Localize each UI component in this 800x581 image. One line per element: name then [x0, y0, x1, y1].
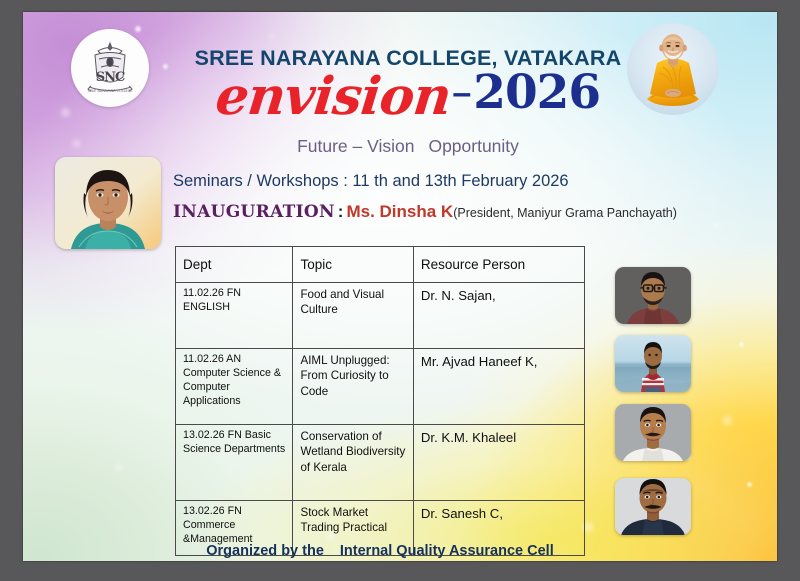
- college-crest-icon: SNC SREE NARAYANA COLLEGE: [71, 29, 149, 107]
- table-header-dept: Dept: [176, 247, 293, 283]
- resource-person-1-portrait-image: [615, 267, 691, 324]
- bokeh-dot: [115, 464, 122, 471]
- event-poster: SNC SREE NARAYANA COLLEGE: [23, 12, 777, 561]
- inauguration-guest-name: Ms. Dinsha K: [346, 202, 453, 221]
- table-header-resource-person: Resource Person: [413, 247, 584, 283]
- table-header-row: Dept Topic Resource Person: [176, 247, 585, 283]
- cell-resource-person: Mr. Ajvad Haneef K,: [413, 349, 584, 425]
- cell-topic: Conservation of Wetland Biodiversity of …: [293, 425, 413, 501]
- organizer-name: Internal Quality Assurance Cell: [340, 543, 554, 559]
- seminar-date-line: Seminars / Workshops : 11 th and 13th Fe…: [173, 172, 673, 191]
- bokeh-dot: [135, 26, 141, 32]
- inauguration-label: INAUGURATION: [173, 202, 335, 222]
- tagline-part-2: Opportunity: [428, 136, 518, 156]
- event-brand-name: envision: [213, 71, 453, 123]
- cell-topic: Food and Visual Culture: [293, 283, 413, 349]
- resource-person-2-photo: [615, 335, 691, 392]
- svg-text:SNC: SNC: [96, 70, 125, 85]
- cell-dept: 11.02.26 FN ENGLISH: [176, 283, 293, 349]
- table-row: 11.02.26 FN ENGLISH Food and Visual Cult…: [176, 283, 585, 349]
- resource-person-4-portrait-image: [615, 478, 691, 535]
- bokeh-dot: [73, 140, 80, 147]
- college-crest-logo: SNC SREE NARAYANA COLLEGE: [71, 29, 149, 107]
- resource-person-3-portrait-image: [615, 404, 691, 461]
- cell-dept: 13.02.26 FN Basic Science Departments: [176, 425, 293, 501]
- resource-person-3-photo: [615, 404, 691, 461]
- chief-guest-photo: [55, 157, 161, 249]
- event-brand-dash: –: [450, 74, 473, 112]
- resource-person-1-photo: [615, 267, 691, 324]
- bokeh-dot: [723, 416, 732, 425]
- bokeh-dot: [739, 342, 744, 347]
- resource-person-2-portrait-image: [615, 335, 691, 392]
- chief-guest-portrait-image: [55, 157, 161, 249]
- schedule-table: Dept Topic Resource Person 11.02.26 FN E…: [175, 246, 585, 556]
- cell-resource-person: Dr. N. Sajan,: [413, 283, 584, 349]
- event-brand: envision–2026: [173, 69, 643, 123]
- organizer-prefix: Organized by the: [206, 543, 324, 559]
- cell-dept: 11.02.26 AN Computer Science & Computer …: [176, 349, 293, 425]
- bokeh-dot: [61, 108, 70, 117]
- inauguration-separator: :: [335, 202, 347, 221]
- cell-topic: AIML Unplugged: From Curiosity to Code: [293, 349, 413, 425]
- table-row: 11.02.26 AN Computer Science & Computer …: [176, 349, 585, 425]
- table-header-topic: Topic: [293, 247, 413, 283]
- inauguration-guest-role: (President, Maniyur Grama Panchayath): [453, 206, 677, 220]
- organizer-footer: Organized by theInternal Quality Assuran…: [175, 543, 585, 559]
- cell-resource-person: Dr. K.M. Khaleel: [413, 425, 584, 501]
- bokeh-dot: [747, 482, 752, 487]
- tagline-part-1: Future – Vision: [297, 136, 414, 156]
- resource-person-4-photo: [615, 478, 691, 535]
- event-brand-year: 2026: [473, 65, 600, 120]
- svg-text:SREE NARAYANA COLLEGE: SREE NARAYANA COLLEGE: [88, 89, 133, 93]
- bokeh-dot: [163, 64, 168, 69]
- poster-outer-frame: SNC SREE NARAYANA COLLEGE: [0, 0, 800, 581]
- event-tagline: Future – VisionOpportunity: [173, 136, 643, 157]
- table-row: 13.02.26 FN Basic Science Departments Co…: [176, 425, 585, 501]
- inauguration-line: INAUGURATION:Ms. Dinsha K(President, Man…: [173, 202, 733, 222]
- bokeh-dot: [269, 34, 274, 39]
- bokeh-dot: [713, 222, 720, 229]
